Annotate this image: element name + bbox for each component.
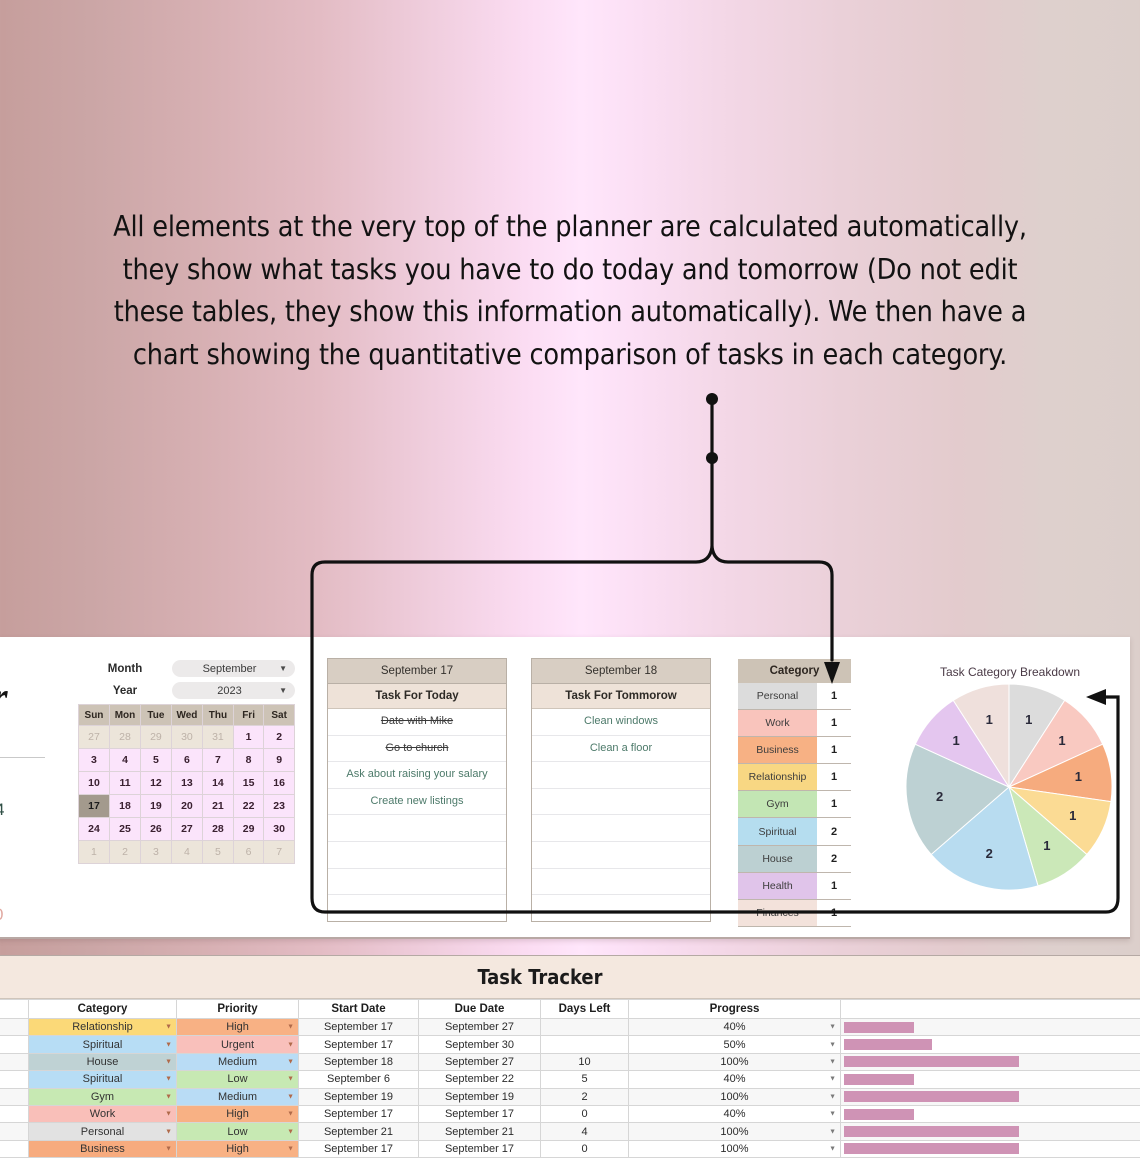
tracker-col-due-date[interactable]: Due Date <box>419 1000 541 1019</box>
cell-priority[interactable]: Medium▼ <box>177 1088 299 1105</box>
category-count: 1 <box>817 710 851 736</box>
chevron-down-icon[interactable]: ▼ <box>165 1145 172 1152</box>
chevron-down-icon: ▼ <box>279 686 287 695</box>
chevron-down-icon[interactable]: ▼ <box>287 1041 294 1048</box>
task-item-empty[interactable] <box>328 895 506 921</box>
progress-bar-fill <box>844 1039 932 1050</box>
task-tomorrow-table[interactable]: September 18 Task For Tommorow Clean win… <box>531 658 711 922</box>
cell-progress-bar <box>841 1019 1140 1036</box>
cell-category[interactable]: Relationship▼ <box>29 1019 177 1036</box>
calendar-widget[interactable]: Month September ▼ Year 2023 ▼ SunMonTueW… <box>78 660 295 864</box>
cell-text: 40% <box>723 1108 745 1120</box>
chevron-down-icon[interactable]: ▼ <box>829 1128 836 1135</box>
calendar-day[interactable]: 22 <box>233 795 263 818</box>
calendar-day[interactable]: 24 <box>79 818 110 841</box>
table-row[interactable]: Spiritual▼Low▼September 6September 22540… <box>0 1071 1140 1088</box>
category-name: Work <box>738 710 817 736</box>
task-tracker-section: Task Tracker CategoryPriorityStart DateD… <box>0 955 1140 1158</box>
calendar-day[interactable]: 2 <box>264 726 295 749</box>
cell-text: House <box>87 1056 119 1068</box>
calendar-day[interactable]: 21 <box>202 795 233 818</box>
cut-off-number-secondary: 0 <box>0 905 3 925</box>
chevron-down-icon[interactable]: ▼ <box>165 1076 172 1083</box>
calendar-day[interactable]: 5 <box>202 841 233 864</box>
headline-line-3: these tables, they show this information… <box>70 291 1070 334</box>
cell-text: 100% <box>720 1143 748 1155</box>
page-title: All elements at the very top of the plan… <box>70 206 1070 376</box>
category-row: Personal1 <box>738 683 851 710</box>
task-item-empty[interactable] <box>532 762 710 789</box>
chevron-down-icon[interactable]: ▼ <box>829 1111 836 1118</box>
headline-line-2: they show what tasks you have to do toda… <box>70 249 1070 292</box>
task-item-empty[interactable] <box>328 869 506 896</box>
row-spacer <box>0 1036 29 1053</box>
table-row[interactable]: Spiritual▼Urgent▼September 17September 3… <box>0 1036 1140 1053</box>
cell-progress-bar <box>841 1071 1140 1088</box>
tracker-col-days-left[interactable]: Days Left <box>541 1000 629 1019</box>
calendar-day[interactable]: 1 <box>79 841 110 864</box>
category-row: Business1 <box>738 737 851 764</box>
table-row[interactable]: Gym▼Medium▼September 19September 192100%… <box>0 1088 1140 1105</box>
progress-bar-fill <box>844 1091 1019 1102</box>
calendar-week: 1234567 <box>79 841 295 864</box>
annotation-dot-top <box>706 393 718 405</box>
chevron-down-icon[interactable]: ▼ <box>165 1058 172 1065</box>
category-row: House2 <box>738 846 851 873</box>
calendar-day[interactable]: 29 <box>233 818 263 841</box>
row-spacer <box>0 1071 29 1088</box>
category-header: Category <box>738 659 851 683</box>
cell-text: Business <box>80 1143 125 1155</box>
task-category-pie-chart: Task Category Breakdown 111112211 <box>885 660 1135 915</box>
tomorrow-date: September 18 <box>532 659 710 684</box>
headline-line-1: All elements at the very top of the plan… <box>70 206 1070 249</box>
cell-priority[interactable]: Urgent▼ <box>177 1036 299 1053</box>
cell-text: Work <box>90 1108 115 1120</box>
cell-priority[interactable]: Medium▼ <box>177 1053 299 1070</box>
calendar-days[interactable]: 2728293031123456789101112131415161718192… <box>79 726 295 864</box>
cut-off-title-fragment: r <box>0 673 8 720</box>
year-value: 2023 <box>217 685 241 697</box>
calendar-day[interactable]: 27 <box>171 818 202 841</box>
task-tracker-title: Task Tracker <box>477 965 602 989</box>
cell-progress-value[interactable]: 100%▼ <box>629 1088 841 1105</box>
cell-progress-value[interactable]: 100%▼ <box>629 1140 841 1157</box>
calendar-day[interactable]: 20 <box>171 795 202 818</box>
progress-bar-fill <box>844 1143 1019 1154</box>
cell-progress-bar <box>841 1105 1140 1122</box>
cell-text: High <box>226 1021 249 1033</box>
cell-text: 50% <box>723 1039 745 1051</box>
calendar-day[interactable]: 11 <box>109 772 140 795</box>
calendar-day[interactable]: 7 <box>202 749 233 772</box>
category-name: Business <box>738 737 817 763</box>
chevron-down-icon[interactable]: ▼ <box>287 1058 294 1065</box>
category-count: 1 <box>817 683 851 709</box>
pie-label: 2 <box>986 846 993 861</box>
category-row: Spiritual2 <box>738 818 851 845</box>
calendar-weekday-row: SunMonTueWedThuFriSat <box>79 705 295 726</box>
task-item-empty[interactable] <box>532 895 710 921</box>
cell-category[interactable]: Gym▼ <box>29 1088 177 1105</box>
cell-category[interactable]: Work▼ <box>29 1105 177 1122</box>
cell-text: 40% <box>723 1021 745 1033</box>
table-row[interactable]: Business▼High▼September 17September 1701… <box>0 1140 1140 1157</box>
cell-due-date[interactable]: September 19 <box>419 1088 541 1105</box>
task-item-empty[interactable] <box>328 842 506 869</box>
tracker-col-category[interactable]: Category <box>29 1000 177 1019</box>
calendar-day[interactable]: 31 <box>202 726 233 749</box>
category-count: 2 <box>817 818 851 844</box>
cell-start-date[interactable]: September 18 <box>299 1053 419 1070</box>
calendar-week: 3456789 <box>79 749 295 772</box>
cell-text: Personal <box>81 1126 124 1138</box>
cut-off-number: 4 <box>0 800 4 820</box>
calendar-day[interactable]: 30 <box>264 818 295 841</box>
chevron-down-icon[interactable]: ▼ <box>165 1111 172 1118</box>
cell-due-date[interactable]: September 30 <box>419 1036 541 1053</box>
calendar-day[interactable]: 28 <box>109 726 140 749</box>
category-row: Work1 <box>738 710 851 737</box>
chevron-down-icon: ▼ <box>279 664 287 673</box>
cell-category[interactable]: Spiritual▼ <box>29 1071 177 1088</box>
calendar-day[interactable]: 6 <box>171 749 202 772</box>
cell-days-left: 10 <box>541 1053 629 1070</box>
table-row[interactable]: Work▼High▼September 17September 17040%▼ <box>0 1105 1140 1122</box>
cell-due-date[interactable]: September 17 <box>419 1140 541 1157</box>
task-item[interactable]: Clean windows <box>532 709 710 736</box>
task-item-empty[interactable] <box>532 869 710 896</box>
cell-category[interactable]: House▼ <box>29 1053 177 1070</box>
month-value: September <box>203 663 257 675</box>
year-dropdown[interactable]: 2023 ▼ <box>172 682 295 699</box>
weekday-mon: Mon <box>109 705 140 726</box>
pie-label: 2 <box>936 789 943 804</box>
calendar-grid[interactable]: SunMonTueWedThuFriSat 272829303112345678… <box>78 704 295 864</box>
cell-progress-bar <box>841 1088 1140 1105</box>
task-item-empty[interactable] <box>532 789 710 816</box>
cell-text: Spiritual <box>83 1039 123 1051</box>
cell-text: Low <box>227 1073 247 1085</box>
cell-text: 100% <box>720 1091 748 1103</box>
calendar-day[interactable]: 10 <box>79 772 110 795</box>
cell-progress-value[interactable]: 40%▼ <box>629 1019 841 1036</box>
chevron-down-icon[interactable]: ▼ <box>287 1111 294 1118</box>
calendar-week: 17181920212223 <box>79 795 295 818</box>
task-item-empty[interactable] <box>532 815 710 842</box>
task-item[interactable]: Clean a floor <box>532 736 710 763</box>
cell-text: High <box>226 1108 249 1120</box>
cell-text: High <box>226 1143 249 1155</box>
category-summary-table[interactable]: Category Personal1Work1Business1Relation… <box>738 659 851 927</box>
year-label: Year <box>78 685 172 697</box>
weekday-thu: Thu <box>202 705 233 726</box>
annotation-dot-mid <box>706 452 718 464</box>
calendar-day[interactable]: 14 <box>202 772 233 795</box>
category-name: Personal <box>738 683 817 709</box>
cell-progress-bar <box>841 1123 1140 1140</box>
calendar-day[interactable]: 25 <box>109 818 140 841</box>
calendar-day[interactable]: 30 <box>171 726 202 749</box>
cell-start-date[interactable]: September 17 <box>299 1105 419 1122</box>
chevron-down-icon[interactable]: ▼ <box>829 1058 836 1065</box>
cell-days-left: 4 <box>541 1123 629 1140</box>
category-count: 1 <box>817 737 851 763</box>
calendar-day[interactable]: 13 <box>171 772 202 795</box>
table-row[interactable]: Relationship▼High▼September 17September … <box>0 1019 1140 1036</box>
calendar-day[interactable]: 6 <box>233 841 263 864</box>
category-count: 1 <box>817 764 851 790</box>
calendar-day[interactable]: 26 <box>141 818 172 841</box>
chevron-down-icon[interactable]: ▼ <box>287 1093 294 1100</box>
cell-priority[interactable]: Low▼ <box>177 1071 299 1088</box>
cell-days-left <box>541 1019 629 1036</box>
calendar-day[interactable]: 27 <box>79 726 110 749</box>
cell-progress-value[interactable]: 100%▼ <box>629 1053 841 1070</box>
cell-priority[interactable]: Low▼ <box>177 1123 299 1140</box>
today-date: September 17 <box>328 659 506 684</box>
cell-start-date[interactable]: September 17 <box>299 1036 419 1053</box>
category-name: House <box>738 846 817 872</box>
tracker-col-progress[interactable]: Progress <box>629 1000 841 1019</box>
cell-days-left <box>541 1036 629 1053</box>
progress-bar-fill <box>844 1056 1019 1067</box>
task-tracker-banner: Task Tracker <box>0 955 1140 999</box>
tracker-col-spacer <box>0 1000 29 1019</box>
cell-priority[interactable]: High▼ <box>177 1140 299 1157</box>
chevron-down-icon[interactable]: ▼ <box>287 1024 294 1031</box>
calendar-day-selected[interactable]: 17 <box>79 795 110 818</box>
calendar-day[interactable]: 3 <box>79 749 110 772</box>
cell-start-date[interactable]: September 6 <box>299 1071 419 1088</box>
chevron-down-icon[interactable]: ▼ <box>829 1041 836 1048</box>
chevron-down-icon[interactable]: ▼ <box>287 1145 294 1152</box>
calendar-day[interactable]: 3 <box>141 841 172 864</box>
category-name: Finances <box>738 900 817 926</box>
calendar-day[interactable]: 8 <box>233 749 263 772</box>
category-name: Gym <box>738 791 817 817</box>
tracker-col-blank[interactable] <box>841 1000 1140 1019</box>
weekday-fri: Fri <box>233 705 263 726</box>
calendar-day[interactable]: 7 <box>264 841 295 864</box>
cell-progress-bar <box>841 1053 1140 1070</box>
table-row[interactable]: House▼Medium▼September 18September 27101… <box>0 1053 1140 1070</box>
pie-label: 1 <box>1069 808 1076 823</box>
progress-bar-fill <box>844 1022 914 1033</box>
chevron-down-icon[interactable]: ▼ <box>829 1145 836 1152</box>
chevron-down-icon[interactable]: ▼ <box>165 1128 172 1135</box>
cell-text: Relationship <box>72 1021 133 1033</box>
cell-start-date[interactable]: September 17 <box>299 1019 419 1036</box>
cell-due-date[interactable]: September 17 <box>419 1105 541 1122</box>
cell-text: Medium <box>218 1056 257 1068</box>
task-item-empty[interactable] <box>532 842 710 869</box>
calendar-day[interactable]: 18 <box>109 795 140 818</box>
task-tracker-table[interactable]: CategoryPriorityStart DateDue DateDays L… <box>0 999 1140 1158</box>
cell-text: Spiritual <box>83 1073 123 1085</box>
calendar-day[interactable]: 29 <box>141 726 172 749</box>
cell-text: Low <box>227 1126 247 1138</box>
calendar-year-row: Year 2023 ▼ <box>78 682 295 699</box>
row-spacer <box>0 1053 29 1070</box>
calendar-day[interactable]: 4 <box>109 749 140 772</box>
cell-days-left: 2 <box>541 1088 629 1105</box>
calendar-day[interactable]: 19 <box>141 795 172 818</box>
cell-due-date[interactable]: September 27 <box>419 1053 541 1070</box>
category-name: Health <box>738 873 817 899</box>
cell-text: Urgent <box>221 1039 254 1051</box>
calendar-day[interactable]: 1 <box>233 726 263 749</box>
cell-category[interactable]: Business▼ <box>29 1140 177 1157</box>
calendar-day[interactable]: 15 <box>233 772 263 795</box>
pie-label: 1 <box>1075 769 1082 784</box>
cell-text: 100% <box>720 1056 748 1068</box>
cell-category[interactable]: Personal▼ <box>29 1123 177 1140</box>
calendar-month-row: Month September ▼ <box>78 660 295 677</box>
calendar-day[interactable]: 16 <box>264 772 295 795</box>
pie-label: 1 <box>1058 733 1065 748</box>
pie-label: 1 <box>952 733 959 748</box>
cell-progress-value[interactable]: 40%▼ <box>629 1105 841 1122</box>
cell-text: Gym <box>91 1091 114 1103</box>
calendar-day[interactable]: 2 <box>109 841 140 864</box>
calendar-day[interactable]: 4 <box>171 841 202 864</box>
tracker-header-row: CategoryPriorityStart DateDue DateDays L… <box>0 1000 1140 1019</box>
cell-progress-bar <box>841 1036 1140 1053</box>
month-label: Month <box>78 663 172 675</box>
today-rows[interactable]: Date with MikeGo to churchAsk about rais… <box>328 709 506 921</box>
table-row[interactable]: Personal▼Low▼September 21September 21410… <box>0 1123 1140 1140</box>
tracker-col-start-date[interactable]: Start Date <box>299 1000 419 1019</box>
task-item-completed[interactable]: Date with Mike <box>328 709 506 736</box>
cell-progress-value[interactable]: 40%▼ <box>629 1071 841 1088</box>
cell-start-date[interactable]: September 17 <box>299 1140 419 1157</box>
cell-due-date[interactable]: September 22 <box>419 1071 541 1088</box>
headline-line-4: chart showing the quantitative compariso… <box>70 334 1070 377</box>
calendar-day[interactable]: 28 <box>202 818 233 841</box>
task-item-empty[interactable] <box>328 815 506 842</box>
cut-off-divider <box>0 757 45 758</box>
calendar-week: 10111213141516 <box>79 772 295 795</box>
cell-priority[interactable]: High▼ <box>177 1019 299 1036</box>
weekday-sat: Sat <box>264 705 295 726</box>
category-row: Relationship1 <box>738 764 851 791</box>
category-row: Finances1 <box>738 900 851 927</box>
chart-title: Task Category Breakdown <box>885 660 1135 679</box>
cell-days-left: 5 <box>541 1071 629 1088</box>
pie-label: 1 <box>1043 838 1050 853</box>
category-rows: Personal1Work1Business1Relationship1Gym1… <box>738 683 851 927</box>
today-header: Task For Today <box>328 684 506 709</box>
tomorrow-header: Task For Tommorow <box>532 684 710 709</box>
task-item[interactable]: Create new listings <box>328 789 506 816</box>
cell-progress-value[interactable]: 100%▼ <box>629 1123 841 1140</box>
tracker-col-priority[interactable]: Priority <box>177 1000 299 1019</box>
cell-start-date[interactable]: September 19 <box>299 1088 419 1105</box>
category-count: 1 <box>817 791 851 817</box>
row-spacer <box>0 1019 29 1036</box>
chevron-down-icon[interactable]: ▼ <box>829 1024 836 1031</box>
category-count: 2 <box>817 846 851 872</box>
cell-days-left: 0 <box>541 1105 629 1122</box>
calendar-week: 272829303112 <box>79 726 295 749</box>
tomorrow-rows[interactable]: Clean windowsClean a floor <box>532 709 710 921</box>
task-item-completed[interactable]: Go to church <box>328 736 506 763</box>
calendar-day[interactable]: 5 <box>141 749 172 772</box>
chevron-down-icon[interactable]: ▼ <box>165 1093 172 1100</box>
row-spacer <box>0 1140 29 1157</box>
pie-label: 1 <box>986 712 993 727</box>
cell-priority[interactable]: High▼ <box>177 1105 299 1122</box>
calendar-day[interactable]: 12 <box>141 772 172 795</box>
chevron-down-icon[interactable]: ▼ <box>829 1093 836 1100</box>
category-row: Gym1 <box>738 791 851 818</box>
tracker-body[interactable]: Relationship▼High▼September 17September … <box>0 1019 1140 1158</box>
progress-bar-fill <box>844 1126 1019 1137</box>
cell-days-left: 0 <box>541 1140 629 1157</box>
chevron-down-icon[interactable]: ▼ <box>287 1128 294 1135</box>
cell-text: 100% <box>720 1126 748 1138</box>
cell-start-date[interactable]: September 21 <box>299 1123 419 1140</box>
cell-due-date[interactable]: September 27 <box>419 1019 541 1036</box>
task-today-table[interactable]: September 17 Task For Today Date with Mi… <box>327 658 507 922</box>
cell-category[interactable]: Spiritual▼ <box>29 1036 177 1053</box>
category-name: Spiritual <box>738 818 817 844</box>
calendar-day[interactable]: 23 <box>264 795 295 818</box>
cell-progress-value[interactable]: 50%▼ <box>629 1036 841 1053</box>
category-row: Health1 <box>738 873 851 900</box>
cell-due-date[interactable]: September 21 <box>419 1123 541 1140</box>
calendar-week: 24252627282930 <box>79 818 295 841</box>
row-spacer <box>0 1105 29 1122</box>
pie-label: 1 <box>1025 712 1032 727</box>
weekday-wed: Wed <box>171 705 202 726</box>
calendar-day[interactable]: 9 <box>264 749 295 772</box>
row-spacer <box>0 1123 29 1140</box>
progress-bar-fill <box>844 1074 914 1085</box>
category-count: 1 <box>817 900 851 926</box>
chevron-down-icon[interactable]: ▼ <box>165 1024 172 1031</box>
month-dropdown[interactable]: September ▼ <box>172 660 295 677</box>
weekday-sun: Sun <box>79 705 110 726</box>
pie-svg: 111112211 <box>885 679 1135 904</box>
cell-text: 40% <box>723 1073 745 1085</box>
progress-bar-fill <box>844 1109 914 1120</box>
chevron-down-icon[interactable]: ▼ <box>829 1076 836 1083</box>
weekday-tue: Tue <box>141 705 172 726</box>
row-spacer <box>0 1088 29 1105</box>
task-item[interactable]: Ask about raising your salary <box>328 762 506 789</box>
chevron-down-icon[interactable]: ▼ <box>165 1041 172 1048</box>
cell-progress-bar <box>841 1140 1140 1157</box>
category-count: 1 <box>817 873 851 899</box>
category-name: Relationship <box>738 764 817 790</box>
cell-text: Medium <box>218 1091 257 1103</box>
chevron-down-icon[interactable]: ▼ <box>287 1076 294 1083</box>
